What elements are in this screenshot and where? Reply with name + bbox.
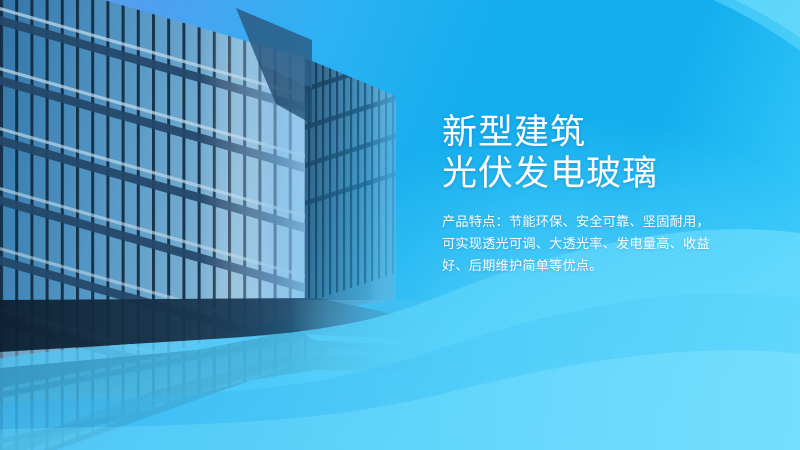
page-title: 新型建筑 光伏发电玻璃 xyxy=(442,112,742,194)
headline-line-2: 光伏发电玻璃 xyxy=(442,153,742,194)
headline-line-1: 新型建筑 xyxy=(442,112,742,153)
product-features-text: 产品特点：节能环保、安全可靠、坚固耐用，可实现透光可调、大透光率、发电量高、收益… xyxy=(442,211,720,277)
product-banner: 新型建筑 光伏发电玻璃 产品特点：节能环保、安全可靠、坚固耐用，可实现透光可调、… xyxy=(0,0,800,450)
copy-block: 新型建筑 光伏发电玻璃 产品特点：节能环保、安全可靠、坚固耐用，可实现透光可调、… xyxy=(442,112,742,277)
